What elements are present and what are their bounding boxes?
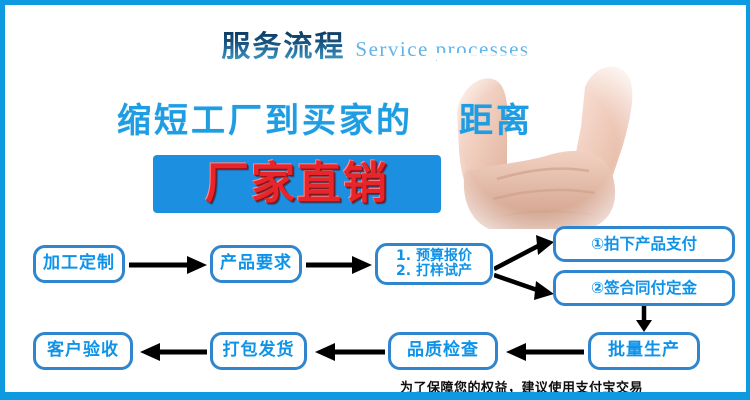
flow-box-quote-and-sample[interactable]: 1. 预算报价 2. 打样试产 <box>375 243 493 285</box>
banner-canvas: 服务流程Service processes <box>5 5 746 392</box>
flow-box-quality-inspection[interactable]: 品质检查 <box>388 332 498 370</box>
flow-box-label: ②签合同付定金 <box>591 280 697 296</box>
arrow-right-icon <box>306 255 372 275</box>
hand-illustration <box>437 53 642 235</box>
page-title-cn: 服务流程 <box>221 31 345 63</box>
arrow-branch-icon <box>494 231 556 303</box>
flow-box-label: 加工定制 <box>43 255 115 273</box>
arrow-right-icon <box>129 255 207 275</box>
page-title-en: Service processes <box>355 37 529 61</box>
headline-part2: 距离 <box>459 101 533 141</box>
flow-box-label: 打包发货 <box>223 342 295 360</box>
headline: 缩短工厂到买家的距离 <box>117 93 617 142</box>
arrow-down-icon <box>633 306 655 332</box>
flow-box-order-payment[interactable]: ①拍下产品支付 <box>553 226 735 262</box>
flow-box-contract-deposit[interactable]: ②签合同付定金 <box>553 270 735 306</box>
footer-notice: 为了保障您的权益，建议使用支付宝交易 <box>400 377 643 396</box>
flow-box-customer-acceptance[interactable]: 客户验收 <box>33 332 133 370</box>
factory-direct-sales-banner: 厂家直销 <box>153 155 441 213</box>
flow-box-label: 品质检查 <box>407 342 479 360</box>
arrow-left-icon <box>136 342 207 362</box>
flow-box-label: ①拍下产品支付 <box>591 236 697 252</box>
flow-box-label: 客户验收 <box>47 342 119 360</box>
flow-box-custom-processing[interactable]: 加工定制 <box>33 245 125 283</box>
flow-box-label-line1: 1. 预算报价 <box>396 249 472 264</box>
flow-box-label-group: 1. 预算报价 2. 打样试产 <box>396 249 472 278</box>
header: 服务流程Service processes <box>5 23 746 65</box>
hand-pinching-gesture-image <box>437 53 642 235</box>
service-process-banner: 服务流程Service processes <box>0 0 750 400</box>
flow-box-mass-production[interactable]: 批量生产 <box>588 332 700 370</box>
arrow-left-icon <box>311 342 385 362</box>
flow-box-product-requirements[interactable]: 产品要求 <box>210 245 302 283</box>
flow-box-label: 批量生产 <box>608 342 680 360</box>
arrow-left-icon <box>502 342 584 362</box>
flow-box-packing-shipping[interactable]: 打包发货 <box>210 332 307 370</box>
headline-part1: 缩短工厂到买家的 <box>117 101 413 141</box>
banner-text: 厂家直销 <box>205 162 389 206</box>
flow-box-label: 产品要求 <box>220 255 292 273</box>
flow-box-label-line2: 2. 打样试产 <box>396 264 472 279</box>
